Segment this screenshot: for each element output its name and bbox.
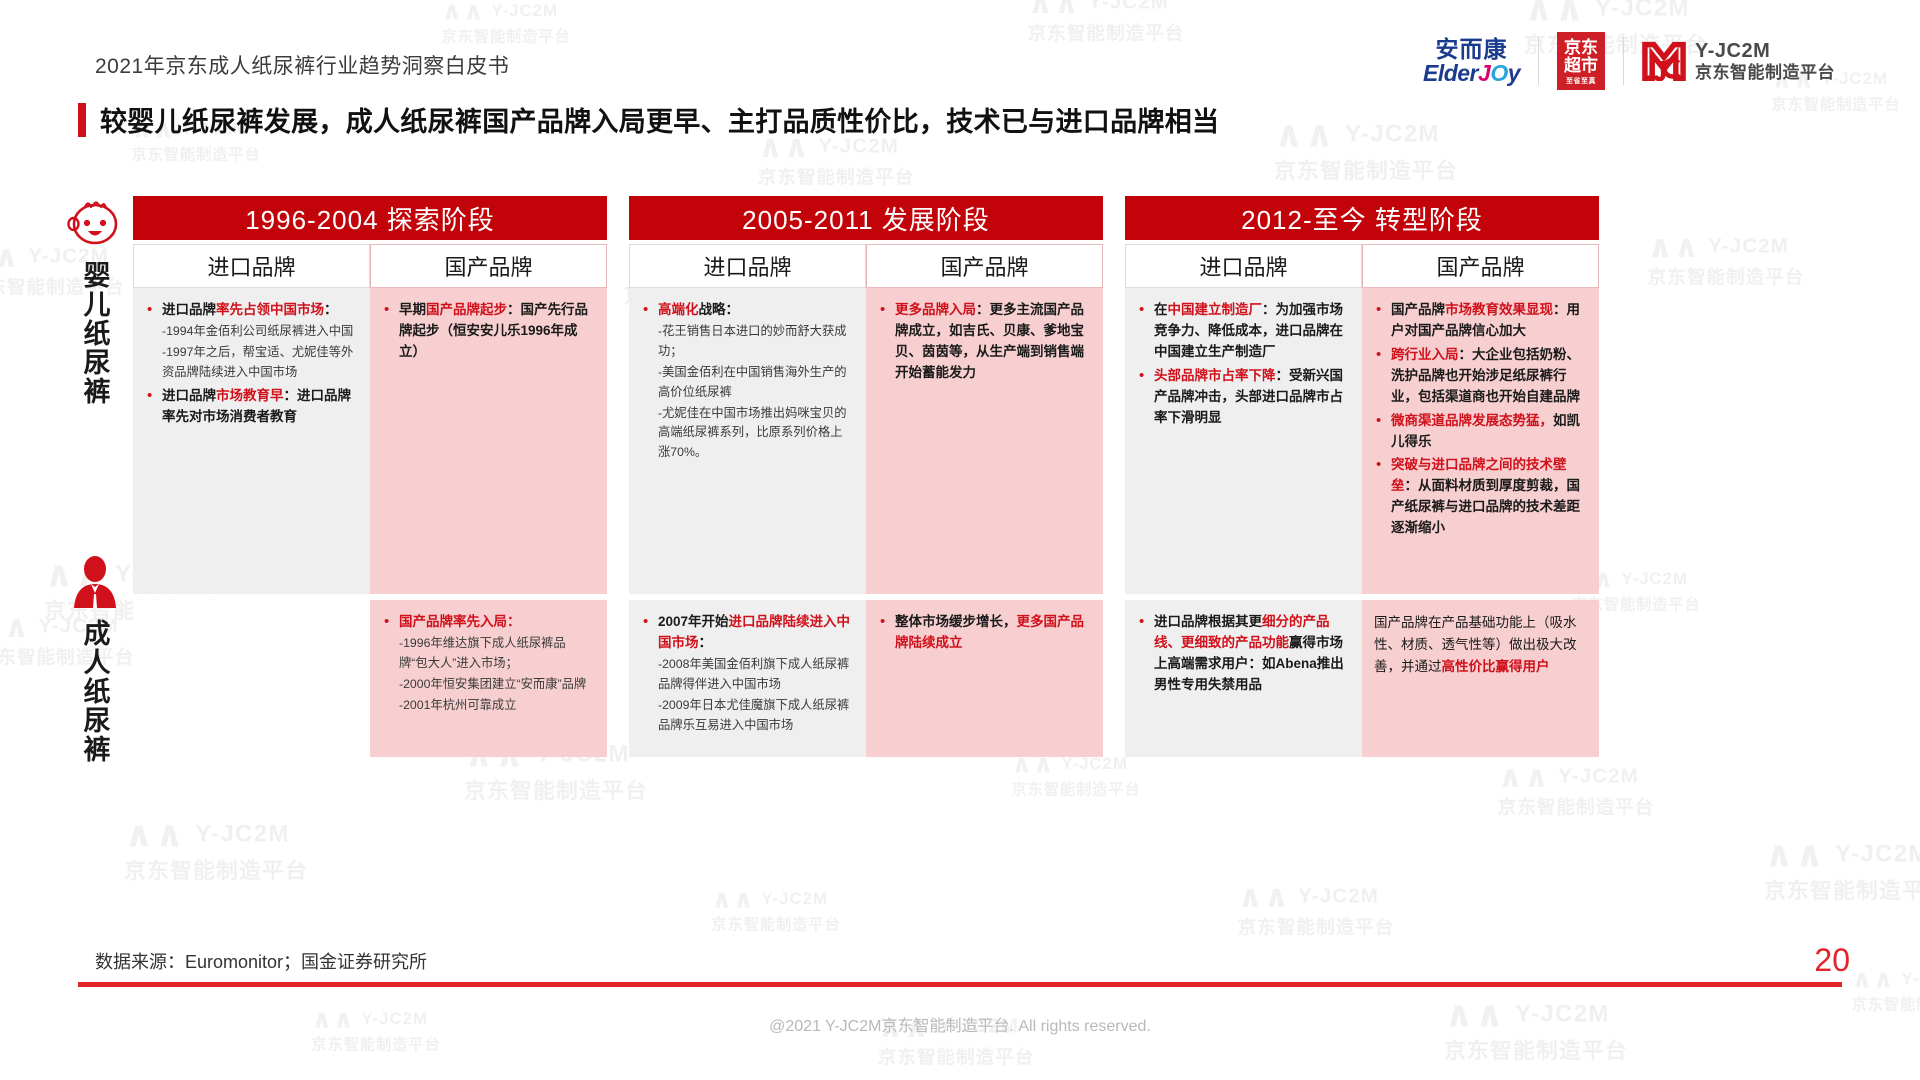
cell-subline: -美国金佰利在中国销售海外生产的高价位纸尿裤 <box>658 363 852 403</box>
yjc2m-mark-icon <box>1642 41 1686 81</box>
cell-bullet-head: 高端化战略： <box>658 300 852 321</box>
phase-baby-row: 在中国建立制造厂：为加强市场竞争力、降低成本，进口品牌在中国建立生产制造厂头部品… <box>1125 288 1599 594</box>
watermark: ∧∧Y-JC2M京东智能制造平台 <box>711 884 840 934</box>
phase-subheader-row: 进口品牌国产品牌 <box>629 244 1103 288</box>
subheader-import: 进口品牌 <box>629 244 866 288</box>
cell-bullet-head: 微商渠道品牌发展态势猛，如凯儿得乐 <box>1391 411 1585 453</box>
elderjoy-en-j: J <box>1478 60 1490 86</box>
bullet-list: 国产品牌率先入局：-1996年维达旗下成人纸尿裤品牌“包大人”进入市场；-200… <box>382 612 593 716</box>
bullet-list: 更多品牌入局：更多主流国产品牌成立，如吉氏、贝康、爹地宝贝、茵茵等，从生产端到销… <box>878 300 1089 384</box>
elderjoy-en-elder: Elder <box>1423 60 1478 86</box>
bullet-list: 进口品牌率先占领中国市场：-1994年金佰利公司纸尿裤进入中国-1997年之后，… <box>145 300 356 427</box>
cell-baby-import: 在中国建立制造厂：为加强市场竞争力、降低成本，进口品牌在中国建立生产制造厂头部品… <box>1125 288 1362 594</box>
cell-baby-import: 高端化战略：-花王销售日本进口的妙而舒大获成功；-美国金佰利在中国销售海外生产的… <box>629 288 866 594</box>
phase-subheader-row: 进口品牌国产品牌 <box>1125 244 1599 288</box>
cell-bullet-head: 进口品牌率先占领中国市场： <box>162 300 356 321</box>
cell-bullet: 在中国建立制造厂：为加强市场竞争力、降低成本，进口品牌在中国建立生产制造厂 <box>1137 300 1348 363</box>
jd-super-line2: 超市 <box>1564 57 1598 75</box>
category-adult-label: 成人纸尿裤 <box>76 619 115 764</box>
subheader-import: 进口品牌 <box>1125 244 1362 288</box>
phase-subheader-row: 进口品牌国产品牌 <box>133 244 607 288</box>
phase-title-3: 2012-至今 转型阶段 <box>1125 196 1599 240</box>
phase-adult-row: 国产品牌率先入局：-1996年维达旗下成人纸尿裤品牌“包大人”进入市场；-200… <box>133 600 607 757</box>
cell-subline: -2009年日本尤佳魔旗下成人纸尿裤品牌乐互易进入中国市场 <box>658 696 852 736</box>
elderjoy-logo: 安而康 ElderJOy <box>1423 38 1520 85</box>
jd-super-line3: 至省至真 <box>1566 78 1596 86</box>
subheader-domestic: 国产品牌 <box>866 244 1103 288</box>
yjc2m-logo: Y-JC2M 京东智能制造平台 <box>1642 40 1835 83</box>
category-baby-label: 婴儿纸尿裤 <box>76 261 115 406</box>
bullet-list: 在中国建立制造厂：为加强市场竞争力、降低成本，进口品牌在中国建立生产制造厂头部品… <box>1137 300 1348 429</box>
slide-headline: 较婴儿纸尿裤发展，成人纸尿裤国产品牌入局更早、主打品质性价比，技术已与进口品牌相… <box>78 100 1219 139</box>
cell-bullet: 进口品牌率先占领中国市场：-1994年金佰利公司纸尿裤进入中国-1997年之后，… <box>145 300 356 383</box>
logo-divider-2 <box>1623 37 1624 85</box>
cell-bullet: 国产品牌市场教育效果显现：用户对国产品牌信心加大 <box>1374 300 1585 342</box>
phase-baby-row: 高端化战略：-花王销售日本进口的妙而舒大获成功；-美国金佰利在中国销售海外生产的… <box>629 288 1103 594</box>
bullet-list: 高端化战略：-花王销售日本进口的妙而舒大获成功；-美国金佰利在中国销售海外生产的… <box>641 300 852 463</box>
bullet-list: 早期国产品牌起步：国产先行品牌起步（恒安安儿乐1996年成立） <box>382 300 593 363</box>
data-source: 数据来源：Euromonitor；国金证券研究所 <box>95 948 427 974</box>
cell-bullet: 国产品牌率先入局：-1996年维达旗下成人纸尿裤品牌“包大人”进入市场；-200… <box>382 612 593 716</box>
elderjoy-logo-cn: 安而康 <box>1435 38 1507 61</box>
jd-super-line1: 京东 <box>1564 39 1598 57</box>
watermark: ∧∧Y-JC2M京东智能制造平台 <box>124 814 308 885</box>
page-header: 2021年京东成人纸尿裤行业趋势洞察白皮书 安而康 ElderJOy 京东 超市… <box>0 0 1920 100</box>
cell-baby-domestic: 国产品牌市场教育效果显现：用户对国产品牌信心加大跨行业入局：大企业包括奶粉、洗护… <box>1362 288 1599 594</box>
cell-subline: -1997年之后，帮宝适、尤妮佳等外资品牌陆续进入中国市场 <box>162 343 356 383</box>
page-number: 20 <box>1814 942 1850 979</box>
cell-adult-import: 2007年开始进口品牌陆续进入中国市场：-2008年美国金佰利旗下成人纸尿裤品牌… <box>629 600 866 757</box>
headline-accent-bar <box>78 103 86 137</box>
cell-subline: -尤妮佳在中国市场推出妈咪宝贝的高端纸尿裤系列，比原系列价格上涨70%。 <box>658 404 852 464</box>
headline-text: 较婴儿纸尿裤发展，成人纸尿裤国产品牌入局更早、主打品质性价比，技术已与进口品牌相… <box>100 100 1219 139</box>
cell-bullet-head: 进口品牌根据其更细分的产品线、更细致的产品功能赢得市场上高端需求用户：如Aben… <box>1154 612 1348 696</box>
cell-bullet-head: 国产品牌市场教育效果显现：用户对国产品牌信心加大 <box>1391 300 1585 342</box>
cell-adult-import <box>133 600 370 757</box>
cell-subline: -2000年恒安集团建立“安而康”品牌 <box>399 675 593 695</box>
bullet-list: 整体市场缓步增长，更多国产品牌陆续成立 <box>878 612 1089 654</box>
bullet-list: 国产品牌市场教育效果显现：用户对国产品牌信心加大跨行业入局：大企业包括奶粉、洗护… <box>1374 300 1585 539</box>
phase-adult-row: 2007年开始进口品牌陆续进入中国市场：-2008年美国金佰利旗下成人纸尿裤品牌… <box>629 600 1103 757</box>
cell-adult-domestic: 国产品牌在产品基础功能上（吸水性、材质、透气性等）做出极大改善，并通过高性价比赢… <box>1362 600 1599 757</box>
cell-bullet-head: 突破与进口品牌之间的技术壁垒：从面料材质到厚度剪裁，国产纸尿裤与进口品牌的技术差… <box>1391 455 1585 539</box>
category-baby: 婴儿纸尿裤 <box>59 196 131 411</box>
adult-person-icon <box>72 556 118 608</box>
cell-bullet-head: 更多品牌入局：更多主流国产品牌成立，如吉氏、贝康、爹地宝贝、茵茵等，从生产端到销… <box>895 300 1089 384</box>
phase-column-3: 2012-至今 转型阶段进口品牌国产品牌在中国建立制造厂：为加强市场竞争力、降低… <box>1125 196 1599 757</box>
cell-baby-domestic: 早期国产品牌起步：国产先行品牌起步（恒安安儿乐1996年成立） <box>370 288 607 594</box>
watermark: ∧∧Y-JC2M京东智能制造平台 <box>1238 879 1395 940</box>
watermark: ∧∧Y-JC2M京东智能制造平台 <box>1851 964 1920 1014</box>
cell-bullet: 头部品牌市占率下降：受新兴国产品牌冲击，头部进口品牌市占率下滑明显 <box>1137 366 1348 429</box>
cell-subline: -2008年美国金佰利旗下成人纸尿裤品牌得伴进入中国市场 <box>658 655 852 695</box>
cell-subline: -1996年维达旗下成人纸尿裤品牌“包大人”进入市场； <box>399 634 593 674</box>
cell-bullet: 早期国产品牌起步：国产先行品牌起步（恒安安儿乐1996年成立） <box>382 300 593 363</box>
footer-rule <box>78 982 1842 987</box>
cell-bullet-head: 进口品牌市场教育早：进口品牌率先对市场消费者教育 <box>162 386 356 428</box>
subheader-domestic: 国产品牌 <box>1362 244 1599 288</box>
cell-bullet: 突破与进口品牌之间的技术壁垒：从面料材质到厚度剪裁，国产纸尿裤与进口品牌的技术差… <box>1374 455 1585 539</box>
logo-group: 安而康 ElderJOy 京东 超市 至省至真 Y-JC2M 京东智能制造平台 <box>1423 32 1835 90</box>
cell-subline: -花王销售日本进口的妙而舒大获成功； <box>658 322 852 362</box>
cell-adult-import: 进口品牌根据其更细分的产品线、更细致的产品功能赢得市场上高端需求用户：如Aben… <box>1125 600 1362 757</box>
cell-bullet: 更多品牌入局：更多主流国产品牌成立，如吉氏、贝康、爹地宝贝、茵茵等，从生产端到销… <box>878 300 1089 384</box>
cell-bullet-head: 在中国建立制造厂：为加强市场竞争力、降低成本，进口品牌在中国建立生产制造厂 <box>1154 300 1348 363</box>
cell-baby-domestic: 更多品牌入局：更多主流国产品牌成立，如吉氏、贝康、爹地宝贝、茵茵等，从生产端到销… <box>866 288 1103 594</box>
cell-subline: -1994年金佰利公司纸尿裤进入中国 <box>162 322 356 342</box>
cell-adult-domestic: 国产品牌率先入局：-1996年维达旗下成人纸尿裤品牌“包大人”进入市场；-200… <box>370 600 607 757</box>
elderjoy-en-y: y <box>1508 60 1520 86</box>
cell-bullet-head: 整体市场缓步增长，更多国产品牌陆续成立 <box>895 612 1089 654</box>
cell-baby-import: 进口品牌率先占领中国市场：-1994年金佰利公司纸尿裤进入中国-1997年之后，… <box>133 288 370 594</box>
jd-supermarket-logo: 京东 超市 至省至真 <box>1557 32 1605 90</box>
cell-bullet-head: 头部品牌市占率下降：受新兴国产品牌冲击，头部进口品牌市占率下滑明显 <box>1154 366 1348 429</box>
phase-title-2: 2005-2011 发展阶段 <box>629 196 1103 240</box>
elderjoy-logo-en: ElderJOy <box>1423 62 1520 85</box>
subheader-import: 进口品牌 <box>133 244 370 288</box>
yjc2m-logo-en: Y-JC2M <box>1695 40 1835 63</box>
cell-bullet: 进口品牌根据其更细分的产品线、更细致的产品功能赢得市场上高端需求用户：如Aben… <box>1137 612 1348 696</box>
cell-bullet: 微商渠道品牌发展态势猛，如凯儿得乐 <box>1374 411 1585 453</box>
cell-bullet-head: 早期国产品牌起步：国产先行品牌起步（恒安安儿乐1996年成立） <box>399 300 593 363</box>
yjc2m-logo-text: Y-JC2M 京东智能制造平台 <box>1695 40 1835 83</box>
phase-column-1: 1996-2004 探索阶段进口品牌国产品牌进口品牌率先占领中国市场：-1994… <box>133 196 607 757</box>
cell-bullet-head: 跨行业入局：大企业包括奶粉、洗护品牌也开始涉足纸尿裤行业，包括渠道商也开始自建品… <box>1391 345 1585 408</box>
phase-title-1: 1996-2004 探索阶段 <box>133 196 607 240</box>
cell-bullet: 高端化战略：-花王销售日本进口的妙而舒大获成功；-美国金佰利在中国销售海外生产的… <box>641 300 852 463</box>
copyright-text: @2021 Y-JC2M京东智能制造平台. All rights reserve… <box>0 1012 1920 1036</box>
logo-divider-1 <box>1538 37 1539 85</box>
watermark: ∧∧Y-JC2M京东智能制造平台 <box>1764 834 1920 905</box>
cell-subline: -2001年杭州可靠成立 <box>399 696 593 716</box>
cell-paragraph: 国产品牌在产品基础功能上（吸水性、材质、透气性等）做出极大改善，并通过高性价比赢… <box>1374 612 1585 678</box>
phase-column-2: 2005-2011 发展阶段进口品牌国产品牌高端化战略：-花王销售日本进口的妙而… <box>629 196 1103 757</box>
bullet-list: 2007年开始进口品牌陆续进入中国市场：-2008年美国金佰利旗下成人纸尿裤品牌… <box>641 612 852 735</box>
watermark: ∧∧Y-JC2M京东智能制造平台 <box>1498 759 1655 820</box>
elderjoy-en-o: O <box>1490 60 1507 86</box>
cell-bullet: 整体市场缓步增长，更多国产品牌陆续成立 <box>878 612 1089 654</box>
document-title: 2021年京东成人纸尿裤行业趋势洞察白皮书 <box>95 50 509 80</box>
category-adult: 成人纸尿裤 <box>59 556 131 769</box>
subheader-domestic: 国产品牌 <box>370 244 607 288</box>
baby-face-icon <box>66 196 124 250</box>
cell-bullet: 跨行业入局：大企业包括奶粉、洗护品牌也开始涉足纸尿裤行业，包括渠道商也开始自建品… <box>1374 345 1585 408</box>
cell-bullet: 2007年开始进口品牌陆续进入中国市场：-2008年美国金佰利旗下成人纸尿裤品牌… <box>641 612 852 735</box>
cell-bullet-head: 2007年开始进口品牌陆续进入中国市场： <box>658 612 852 654</box>
yjc2m-logo-cn: 京东智能制造平台 <box>1695 63 1835 83</box>
phase-baby-row: 进口品牌率先占领中国市场：-1994年金佰利公司纸尿裤进入中国-1997年之后，… <box>133 288 607 594</box>
phase-adult-row: 进口品牌根据其更细分的产品线、更细致的产品功能赢得市场上高端需求用户：如Aben… <box>1125 600 1599 757</box>
phase-columns: 1996-2004 探索阶段进口品牌国产品牌进口品牌率先占领中国市场：-1994… <box>133 196 1855 757</box>
bullet-list: 进口品牌根据其更细分的产品线、更细致的产品功能赢得市场上高端需求用户：如Aben… <box>1137 612 1348 696</box>
cell-bullet: 进口品牌市场教育早：进口品牌率先对市场消费者教育 <box>145 386 356 428</box>
cell-bullet-head: 国产品牌率先入局： <box>399 612 593 633</box>
cell-adult-domestic: 整体市场缓步增长，更多国产品牌陆续成立 <box>866 600 1103 757</box>
watermark: ∧∧Y-JC2M京东智能制造平台 <box>1274 114 1458 185</box>
